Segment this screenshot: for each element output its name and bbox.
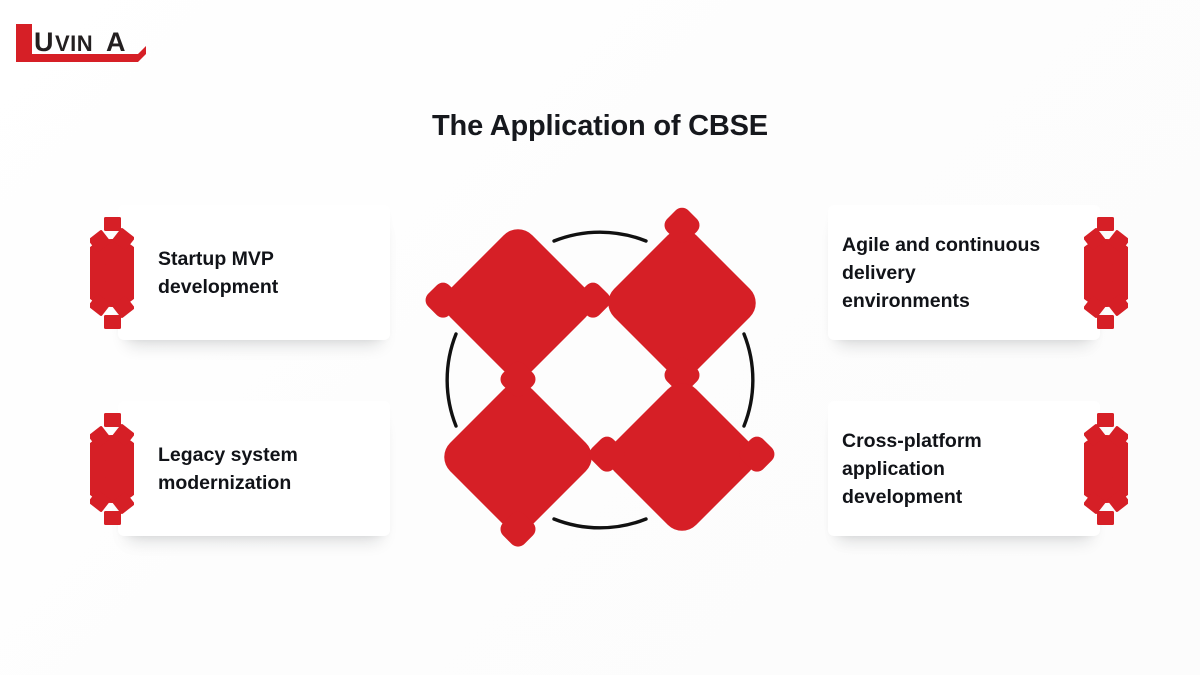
luvina-logo[interactable]: U VIN A <box>14 22 174 68</box>
diagram-item-card-bottom-right[interactable]: Cross-platform application development <box>828 401 1100 536</box>
slide-canvas: U VIN A The Application of CBSE S <box>0 0 1200 675</box>
svg-text:A: A <box>106 27 126 57</box>
diagram-item-label: Agile and continuous delivery environmen… <box>842 231 1060 315</box>
svg-text:U: U <box>34 27 54 57</box>
half-gear-icon <box>1084 217 1128 329</box>
half-gear-icon <box>90 413 134 525</box>
diagram-item-label: Legacy system modernization <box>158 441 374 497</box>
half-gear-icon <box>90 217 134 329</box>
diagram-item-card-bottom-left[interactable]: Legacy system modernization <box>118 401 390 536</box>
diagram-item-card-top-right[interactable]: Agile and continuous delivery environmen… <box>828 205 1100 340</box>
diagram-item-card-top-left[interactable]: Startup MVP development <box>118 205 390 340</box>
four-diamond-cycle-icon <box>410 195 790 565</box>
svg-text:VIN: VIN <box>55 31 93 56</box>
diamond-node-group <box>422 204 778 550</box>
diagram-item-label: Startup MVP development <box>158 245 374 301</box>
diagram-item-label: Cross-platform application development <box>842 427 1060 511</box>
page-title: The Application of CBSE <box>0 110 1200 143</box>
half-gear-icon <box>1084 413 1128 525</box>
